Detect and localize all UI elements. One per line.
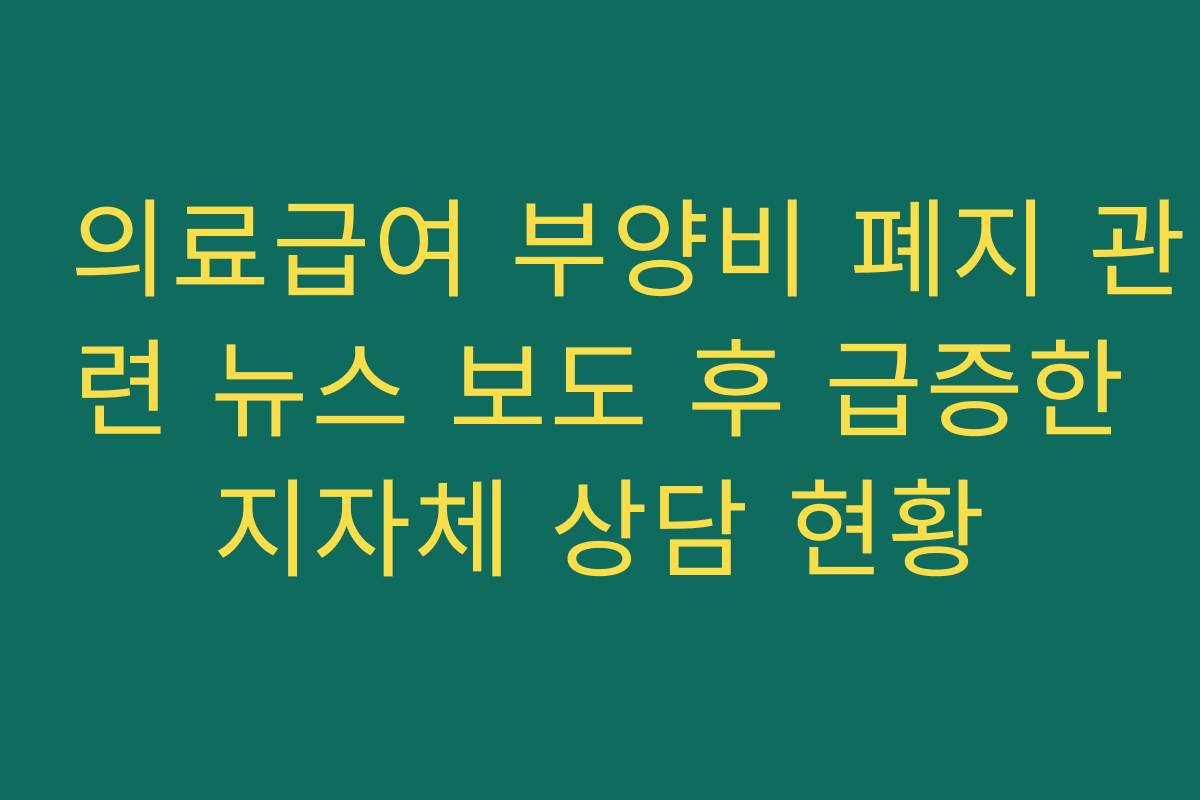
headline-line-1: 의료급여 부양비 폐지 관 <box>70 182 1130 322</box>
headline-line-2: 련 뉴스 보도 후 급증한 <box>70 322 1130 462</box>
page-title: 의료급여 부양비 폐지 관 련 뉴스 보도 후 급증한 지자체 상담 현황 <box>70 182 1130 602</box>
headline-line-3: 지자체 상담 현황 <box>70 462 1130 602</box>
title-card: 의료급여 부양비 폐지 관 련 뉴스 보도 후 급증한 지자체 상담 현황 <box>0 0 1200 800</box>
